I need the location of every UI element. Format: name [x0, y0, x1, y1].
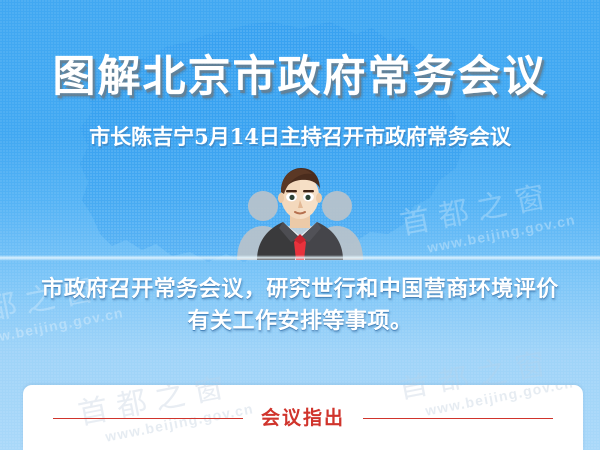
infographic-page: 首都之窗 www.beijing.gov.cn 首都之窗 www.beijing… [0, 0, 600, 450]
official-speaker-illustration [215, 160, 385, 260]
section-rule-right [363, 418, 553, 419]
watermark-text-cn: 首都之窗 [394, 385, 572, 407]
lead-paragraph: 市政府召开常务会议，研究世行和中国营商环境评价 有关工作安排等事项。 [30, 274, 570, 338]
lead-line-2: 有关工作安排等事项。 [30, 306, 570, 338]
separator-band [0, 255, 600, 261]
content-panel: 首都之窗 www.beijing.gov.cn 首都之窗 www.beijing… [23, 385, 583, 450]
section-title: 会议指出 [261, 407, 345, 429]
section-header: 会议指出 [23, 407, 583, 429]
page-subtitle: 市长陈吉宁5月14日主持召开市政府常务会议 [0, 124, 600, 150]
section-rule-left [53, 418, 243, 419]
lead-line-1: 市政府召开常务会议，研究世行和中国营商环境评价 [30, 274, 570, 306]
page-title: 图解北京市政府常务会议 [0, 52, 600, 102]
